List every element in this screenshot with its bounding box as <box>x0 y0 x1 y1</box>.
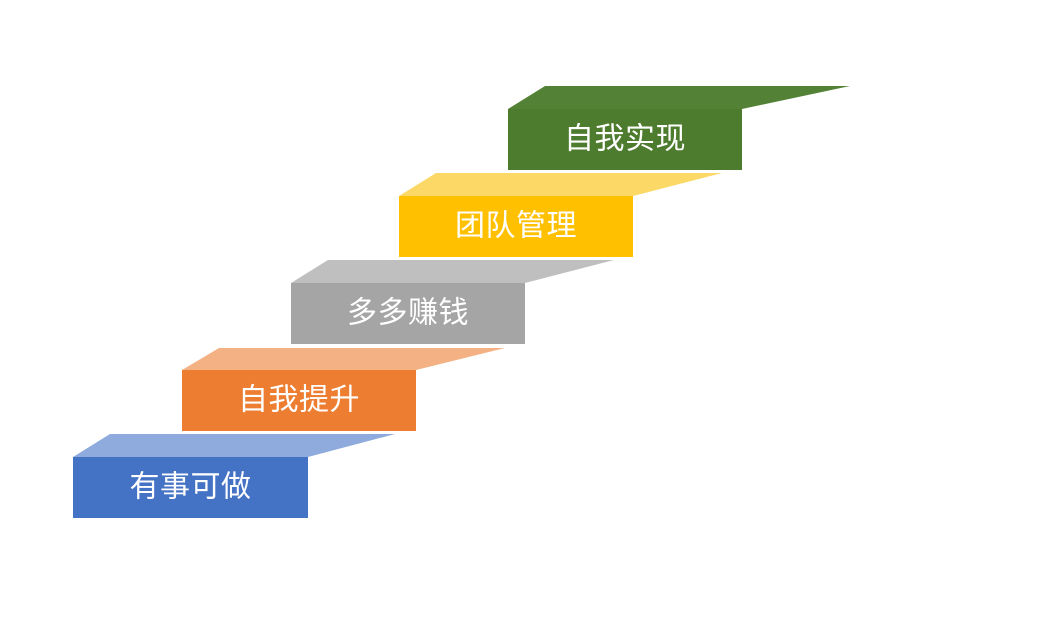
step-3-top-surface <box>291 260 614 283</box>
step-2-label: 自我提升 <box>238 383 360 416</box>
step-5-label: 自我实现 <box>564 122 686 155</box>
step-5[interactable]: 自我实现 <box>508 86 850 170</box>
step-2-top-surface <box>182 348 505 370</box>
step-4-label: 团队管理 <box>455 209 577 242</box>
step-1-label: 有事可做 <box>130 470 252 503</box>
staircase-diagram: 有事可做 自我提升 多多赚钱 团队管理 自我实现 <box>0 0 1047 626</box>
step-3[interactable]: 多多赚钱 <box>291 260 614 344</box>
diagram-canvas: 有事可做 自我提升 多多赚钱 团队管理 自我实现 <box>0 0 1047 626</box>
step-3-label: 多多赚钱 <box>347 296 469 329</box>
step-1-top-surface <box>73 434 395 457</box>
step-5-top-surface <box>508 86 850 109</box>
step-2[interactable]: 自我提升 <box>182 348 505 431</box>
step-1[interactable]: 有事可做 <box>73 434 395 518</box>
step-4[interactable]: 团队管理 <box>399 173 722 257</box>
step-4-top-surface <box>399 173 722 196</box>
